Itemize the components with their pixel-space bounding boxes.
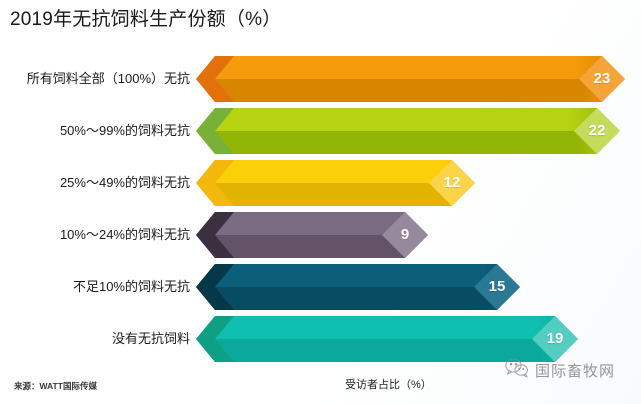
bar-highlight-band — [196, 316, 578, 339]
bar: 15 — [196, 264, 520, 310]
x-axis-label: 受访者占比（%） — [345, 376, 432, 392]
category-label: 50%～99%的饲料无抗 — [60, 108, 190, 154]
plot-area: 所有饲料全部（100%）无抗2350%～99%的饲料无抗2225%～49%的饲料… — [0, 54, 641, 364]
category-label: 不足10%的饲料无抗 — [73, 264, 190, 310]
bar-value-label: 15 — [474, 264, 520, 310]
wechat-icon — [505, 358, 529, 383]
bar-row: 10%～24%的饲料无抗9 — [0, 212, 641, 258]
bar-value-label: 23 — [579, 56, 625, 102]
source-note: 来源：WATT国际传媒 — [14, 380, 97, 392]
category-label: 25%～49%的饲料无抗 — [60, 160, 190, 206]
bar-shadow-band — [196, 79, 625, 102]
bar-value-label: 22 — [574, 108, 620, 154]
bar: 9 — [196, 212, 428, 258]
bar-highlight-band — [196, 264, 520, 287]
bar-value-label: 19 — [532, 316, 578, 362]
category-label: 没有无抗饲料 — [112, 316, 190, 362]
bar-row: 25%～49%的饲料无抗12 — [0, 160, 641, 206]
category-label: 10%～24%的饲料无抗 — [60, 212, 190, 258]
bar-row: 所有饲料全部（100%）无抗23 — [0, 56, 641, 102]
bar-body — [196, 316, 578, 362]
bar-highlight-band — [196, 56, 625, 79]
page-title: 2019年无抗饲料生产份额（%） — [10, 4, 281, 31]
bar-body — [196, 56, 625, 102]
bar: 12 — [196, 160, 475, 206]
bar-row: 50%～99%的饲料无抗22 — [0, 108, 641, 154]
bar-row: 不足10%的饲料无抗15 — [0, 264, 641, 310]
category-label: 所有饲料全部（100%）无抗 — [27, 56, 190, 102]
bar: 19 — [196, 316, 578, 362]
watermark-label: 国际畜牧网 — [535, 360, 615, 381]
bar-value-label: 9 — [382, 212, 428, 258]
watermark: 国际畜牧网 — [505, 358, 615, 383]
bar-highlight-band — [196, 108, 620, 131]
bar-body — [196, 264, 520, 310]
chart-container: 2019年无抗饲料生产份额（%） 所有饲料全部（100%）无抗2350%～99%… — [0, 0, 641, 404]
bar: 22 — [196, 108, 620, 154]
bar: 23 — [196, 56, 625, 102]
bar-shadow-band — [196, 131, 620, 154]
bar-value-label: 12 — [429, 160, 475, 206]
bar-body — [196, 108, 620, 154]
bar-row: 没有无抗饲料19 — [0, 316, 641, 362]
bar-shadow-band — [196, 287, 520, 310]
